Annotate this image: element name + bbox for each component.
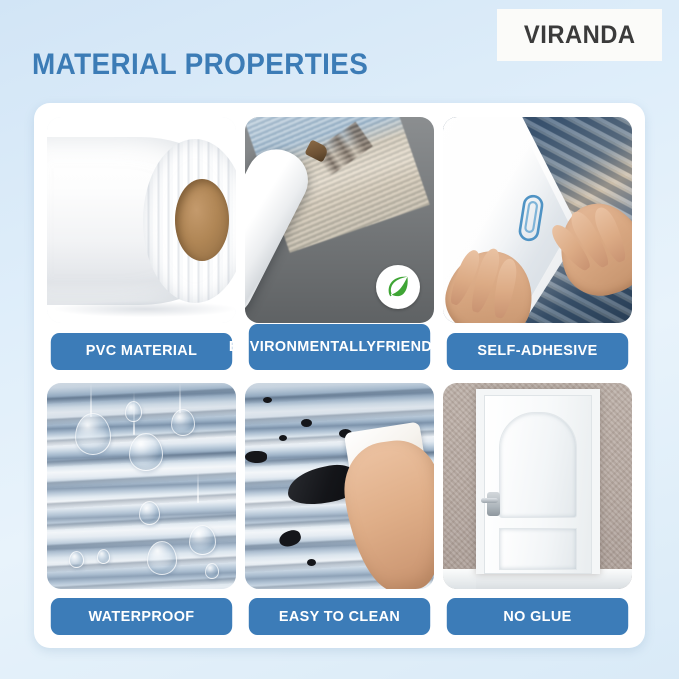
feature-card-easy-to-clean[interactable]: EASY TO CLEAN: [245, 383, 434, 636]
dirt-stain: [279, 435, 287, 441]
droplet-trail: [197, 471, 199, 503]
brand-logo-text: VIRANDA: [524, 21, 636, 50]
leaf-icon: [376, 265, 420, 309]
self-adhesive-image: [443, 117, 632, 323]
waterproof-image: [47, 383, 236, 589]
baseboard-left: [443, 569, 476, 589]
door-panel-lower: [499, 528, 577, 570]
feature-label-no-glue: NO GLUE: [447, 598, 628, 635]
feature-card-no-glue[interactable]: NO GLUE: [443, 383, 632, 636]
feature-card-self-adhesive[interactable]: SELF-ADHESIVE: [443, 117, 632, 370]
feature-label-environmentally-friendly: ENVIRONMENTALLY FRIENDLY: [249, 324, 430, 370]
no-glue-image: [443, 383, 632, 589]
dirt-stain: [245, 451, 267, 463]
droplet-trail: [90, 383, 92, 417]
infographic-page: MATERIAL PROPERTIES VIRANDA PVC MATERIAL: [0, 0, 679, 679]
brand-logo: VIRANDA: [497, 9, 662, 61]
door-panel-upper: [499, 412, 577, 518]
dirt-stain: [301, 419, 312, 427]
water-droplet: [189, 525, 216, 555]
feature-label-waterproof: WATERPROOF: [51, 598, 232, 635]
feature-label-line-1: ENVIRONMENTALLY: [229, 339, 376, 355]
feature-card-waterproof[interactable]: WATERPROOF: [47, 383, 236, 636]
door-handle: [487, 492, 500, 516]
feature-card-environmentally-friendly[interactable]: ENVIRONMENTALLY FRIENDLY: [245, 117, 434, 370]
door-handle-lever: [481, 498, 498, 503]
content-panel: PVC MATERIAL: [34, 103, 645, 648]
dirt-stain: [263, 397, 272, 403]
feature-label-line-2: FRIENDLY: [376, 339, 450, 355]
feature-label-self-adhesive: SELF-ADHESIVE: [447, 333, 628, 370]
water-droplet: [139, 501, 160, 525]
feature-label-pvc-material: PVC MATERIAL: [51, 333, 232, 370]
water-droplet: [171, 409, 195, 436]
water-droplet: [69, 551, 84, 568]
pvc-material-image: [47, 117, 236, 323]
water-droplet: [97, 549, 110, 564]
dirt-stain: [307, 559, 316, 566]
feature-card-pvc-material[interactable]: PVC MATERIAL: [47, 117, 236, 370]
environmentally-friendly-image: [245, 117, 434, 323]
pvc-cardboard-core: [175, 179, 229, 261]
feature-card-grid: PVC MATERIAL: [47, 117, 632, 635]
water-droplet: [125, 401, 142, 422]
easy-to-clean-image: [245, 383, 434, 589]
door-leaf: [484, 395, 592, 574]
feature-label-easy-to-clean: EASY TO CLEAN: [249, 598, 430, 635]
page-title: MATERIAL PROPERTIES: [32, 48, 368, 82]
water-droplet: [205, 563, 219, 579]
pvc-shadow: [55, 301, 235, 317]
header: MATERIAL PROPERTIES VIRANDA: [0, 0, 679, 103]
droplet-trail: [179, 383, 181, 413]
